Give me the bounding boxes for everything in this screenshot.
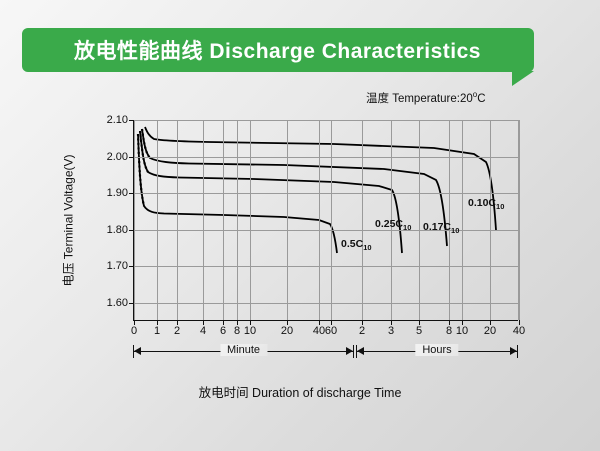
- x-gridline: [419, 120, 420, 320]
- annotation-0.10C10: 0.10C10: [468, 197, 504, 211]
- x-tick-label: 20: [484, 325, 496, 337]
- x-tick-label: 1: [154, 325, 160, 337]
- range-bar-hours: Hours: [356, 345, 518, 359]
- annotation-0.5C10-sub: 10: [363, 243, 371, 252]
- x-gridline: [237, 120, 238, 320]
- x-gridline: [490, 120, 491, 320]
- y-tick-label: 1.80: [107, 224, 128, 236]
- y-gridline: [134, 157, 518, 158]
- temperature-text: 温度 Temperature:20: [366, 93, 473, 105]
- y-tick-label: 1.90: [107, 187, 128, 199]
- x-gridline: [449, 120, 450, 320]
- x-tick-label: 0: [131, 325, 137, 337]
- annotation-0.5C10-text: 0.5C: [341, 238, 363, 250]
- annotation-0.17C10: 0.17C10: [423, 221, 459, 235]
- annotation-0.17C10-text: 0.17C: [423, 221, 451, 233]
- annotation-0.10C10-sub: 10: [496, 202, 504, 211]
- x-tick-label: 8: [234, 325, 240, 337]
- x-tick-label: 20: [281, 325, 293, 337]
- annotation-0.25C10-text: 0.25C: [375, 218, 403, 230]
- banner-tail: [512, 71, 534, 86]
- annotation-0.5C10: 0.5C10: [341, 238, 372, 252]
- plot-right-border: [518, 120, 519, 320]
- y-gridline: [134, 303, 518, 304]
- x-gridline: [177, 120, 178, 320]
- header-banner: 放电性能曲线 Discharge Characteristics: [22, 28, 534, 72]
- y-axis-title-text: 电压 Terminal Voltage(V): [60, 154, 77, 286]
- x-tick-label: 2: [174, 325, 180, 337]
- x-tick-label: 5: [416, 325, 422, 337]
- temperature-unit: C: [477, 93, 485, 105]
- arrow-left-icon: [134, 347, 141, 355]
- temperature-note: 温度 Temperature:20oC: [366, 90, 486, 106]
- x-gridline: [462, 120, 463, 320]
- range-label-hours: Hours: [415, 344, 458, 356]
- page-title: 放电性能曲线 Discharge Characteristics: [74, 35, 481, 65]
- x-tick-label: 2: [359, 325, 365, 337]
- y-tick-label: 2.00: [107, 151, 128, 163]
- arrow-right-icon: [510, 347, 517, 355]
- range-bar-minute: Minute: [133, 345, 354, 359]
- x-gridline: [203, 120, 204, 320]
- range-label-minute: Minute: [220, 344, 267, 356]
- arrow-right-icon: [346, 347, 353, 355]
- y-tick-label: 2.10: [107, 114, 128, 126]
- annotation-0.10C10-text: 0.10C: [468, 197, 496, 209]
- y-axis-title: 电压 Terminal Voltage(V): [60, 120, 76, 321]
- y-gridline: [134, 193, 518, 194]
- chart-plot-area: 2.102.001.901.801.701.600124681020406023…: [133, 120, 518, 321]
- x-tick-label: 4: [200, 325, 206, 337]
- annotation-0.25C10: 0.25C10: [375, 218, 411, 232]
- arrow-left-icon: [357, 347, 364, 355]
- x-gridline: [250, 120, 251, 320]
- x-gridline: [519, 120, 520, 320]
- y-tick-label: 1.60: [107, 297, 128, 309]
- x-gridline: [331, 120, 332, 320]
- x-tick-label: 40: [513, 325, 525, 337]
- x-tick-label: 8: [446, 325, 452, 337]
- x-gridline: [287, 120, 288, 320]
- x-tick-label: 10: [244, 325, 256, 337]
- y-tick-label: 1.70: [107, 260, 128, 272]
- x-gridline: [319, 120, 320, 320]
- x-tick-label: 10: [456, 325, 468, 337]
- y-gridline: [134, 230, 518, 231]
- x-gridline: [157, 120, 158, 320]
- x-tick-label: 60: [325, 325, 337, 337]
- plot-top-border: [134, 120, 518, 121]
- y-gridline: [134, 266, 518, 267]
- x-tick-label: 3: [388, 325, 394, 337]
- x-tick-label: 40: [313, 325, 325, 337]
- x-tick-label: 6: [220, 325, 226, 337]
- x-gridline: [362, 120, 363, 320]
- x-axis-title: 放电时间 Duration of discharge Time: [0, 382, 600, 401]
- annotation-0.17C10-sub: 10: [451, 226, 459, 235]
- x-gridline: [223, 120, 224, 320]
- annotation-0.25C10-sub: 10: [403, 223, 411, 232]
- x-gridline: [134, 120, 135, 320]
